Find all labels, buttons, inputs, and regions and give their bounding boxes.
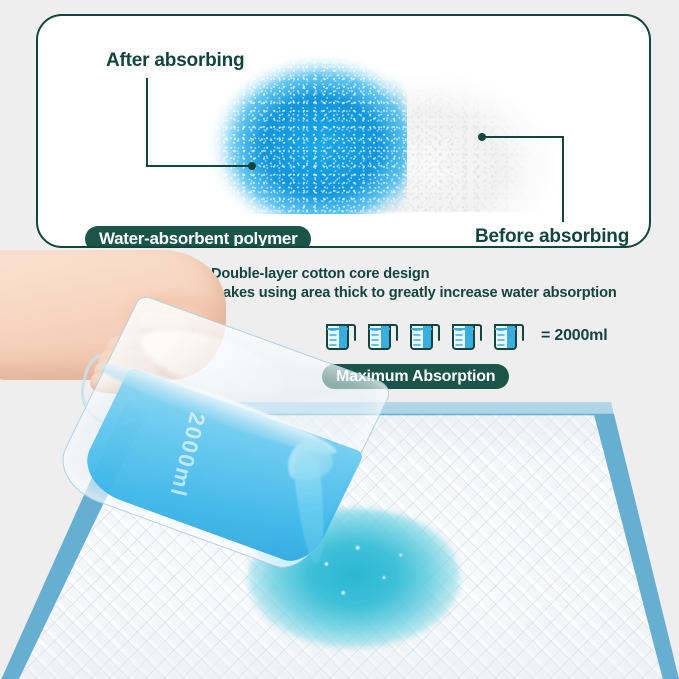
beaker-icon bbox=[490, 316, 528, 356]
after-leader-horizontal bbox=[146, 165, 252, 167]
description-text: Double-layer cotton core design Makes us… bbox=[211, 265, 671, 303]
product-infographic: After absorbing Before absorbing Water-a… bbox=[0, 0, 679, 679]
polymer-comparison-card: After absorbing Before absorbing Water-a… bbox=[36, 14, 651, 248]
description-line-2: Makes using area thick to greatly increa… bbox=[211, 284, 671, 303]
beaker-icon bbox=[364, 316, 402, 356]
after-absorbing-label: After absorbing bbox=[106, 50, 244, 72]
absorption-capacity-row: = 2000ml bbox=[322, 316, 607, 356]
beaker-icon bbox=[406, 316, 444, 356]
after-leader-vertical bbox=[146, 78, 148, 167]
polymer-heap-image bbox=[188, 52, 578, 217]
beaker-icon bbox=[448, 316, 486, 356]
water-absorbent-polymer-badge: Water-absorbent polymer bbox=[85, 226, 311, 248]
before-leader-vertical bbox=[562, 136, 564, 222]
description-line-1: Double-layer cotton core design bbox=[211, 265, 671, 284]
before-absorbing-label: Before absorbing bbox=[475, 226, 629, 248]
absorbed-polymer-gel bbox=[202, 52, 407, 214]
gel-edge-blur bbox=[393, 58, 409, 208]
after-leader-dot bbox=[248, 162, 256, 170]
total-volume-label: = 2000ml bbox=[541, 327, 607, 345]
before-leader-horizontal bbox=[484, 136, 564, 138]
